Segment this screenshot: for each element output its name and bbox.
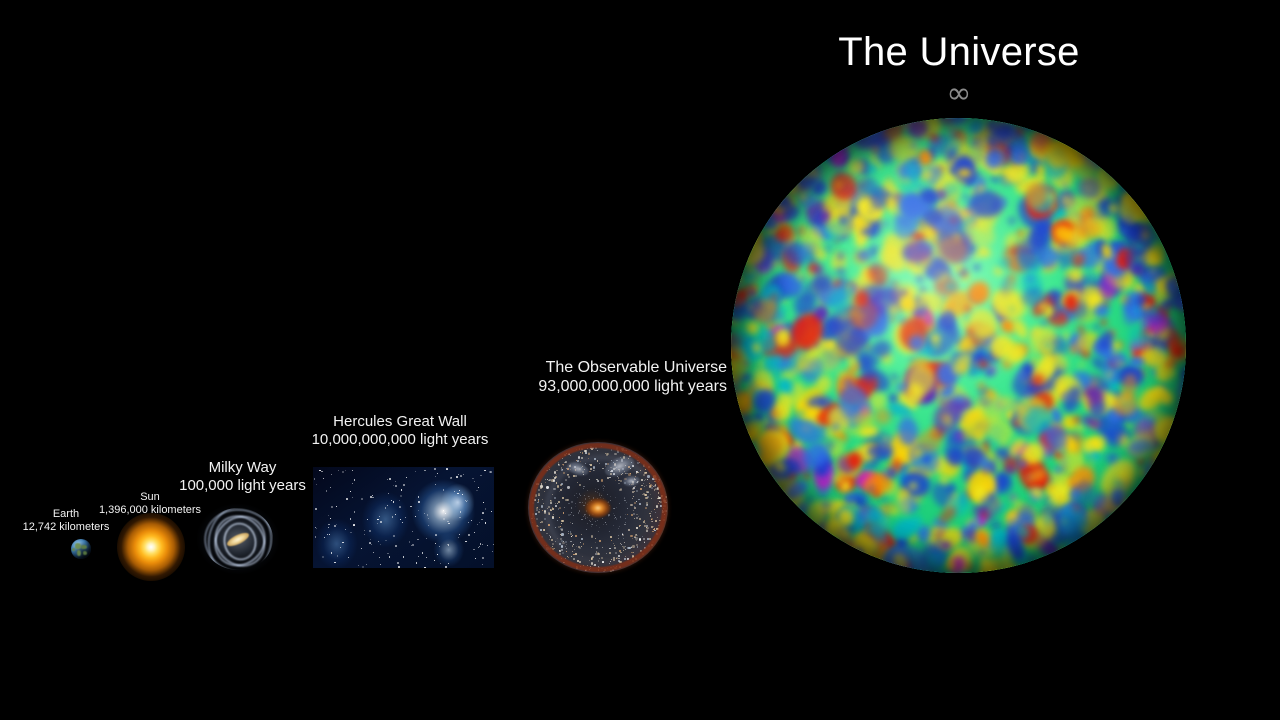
hercules-great-wall-name: Hercules Great Wall — [245, 413, 555, 431]
hercules-great-wall-measurement: 10,000,000,000 light years — [245, 431, 555, 449]
hercules-great-wall-image — [313, 467, 494, 568]
earth-globe — [71, 539, 91, 559]
earth-measurement: 12,742 kilometers — [0, 521, 132, 534]
observable-universe-label: The Observable Universe 93,000,000,000 l… — [395, 359, 727, 397]
star-field — [313, 467, 494, 568]
cmb-universe-sphere — [731, 118, 1186, 573]
milky-way-galaxy — [196, 500, 280, 578]
scale-comparison-scene: The Universe ∞ Earth 12,742 kilometers S… — [0, 0, 1280, 720]
sun-sphere — [117, 513, 185, 581]
cmb-sphere-shading — [731, 118, 1186, 573]
infinity-icon: ∞ — [733, 79, 1185, 109]
observable-universe-name: The Observable Universe — [395, 359, 727, 378]
earth-continents — [71, 539, 91, 559]
sun-glow — [117, 513, 185, 581]
observable-universe-ring — [529, 443, 667, 572]
observable-universe-measurement: 93,000,000,000 light years — [395, 378, 727, 397]
hercules-great-wall-label: Hercules Great Wall 10,000,000,000 light… — [245, 413, 555, 448]
page-title: The Universe ∞ — [733, 30, 1185, 109]
observable-universe-disc — [528, 442, 668, 573]
universe-title-text: The Universe — [733, 30, 1185, 75]
